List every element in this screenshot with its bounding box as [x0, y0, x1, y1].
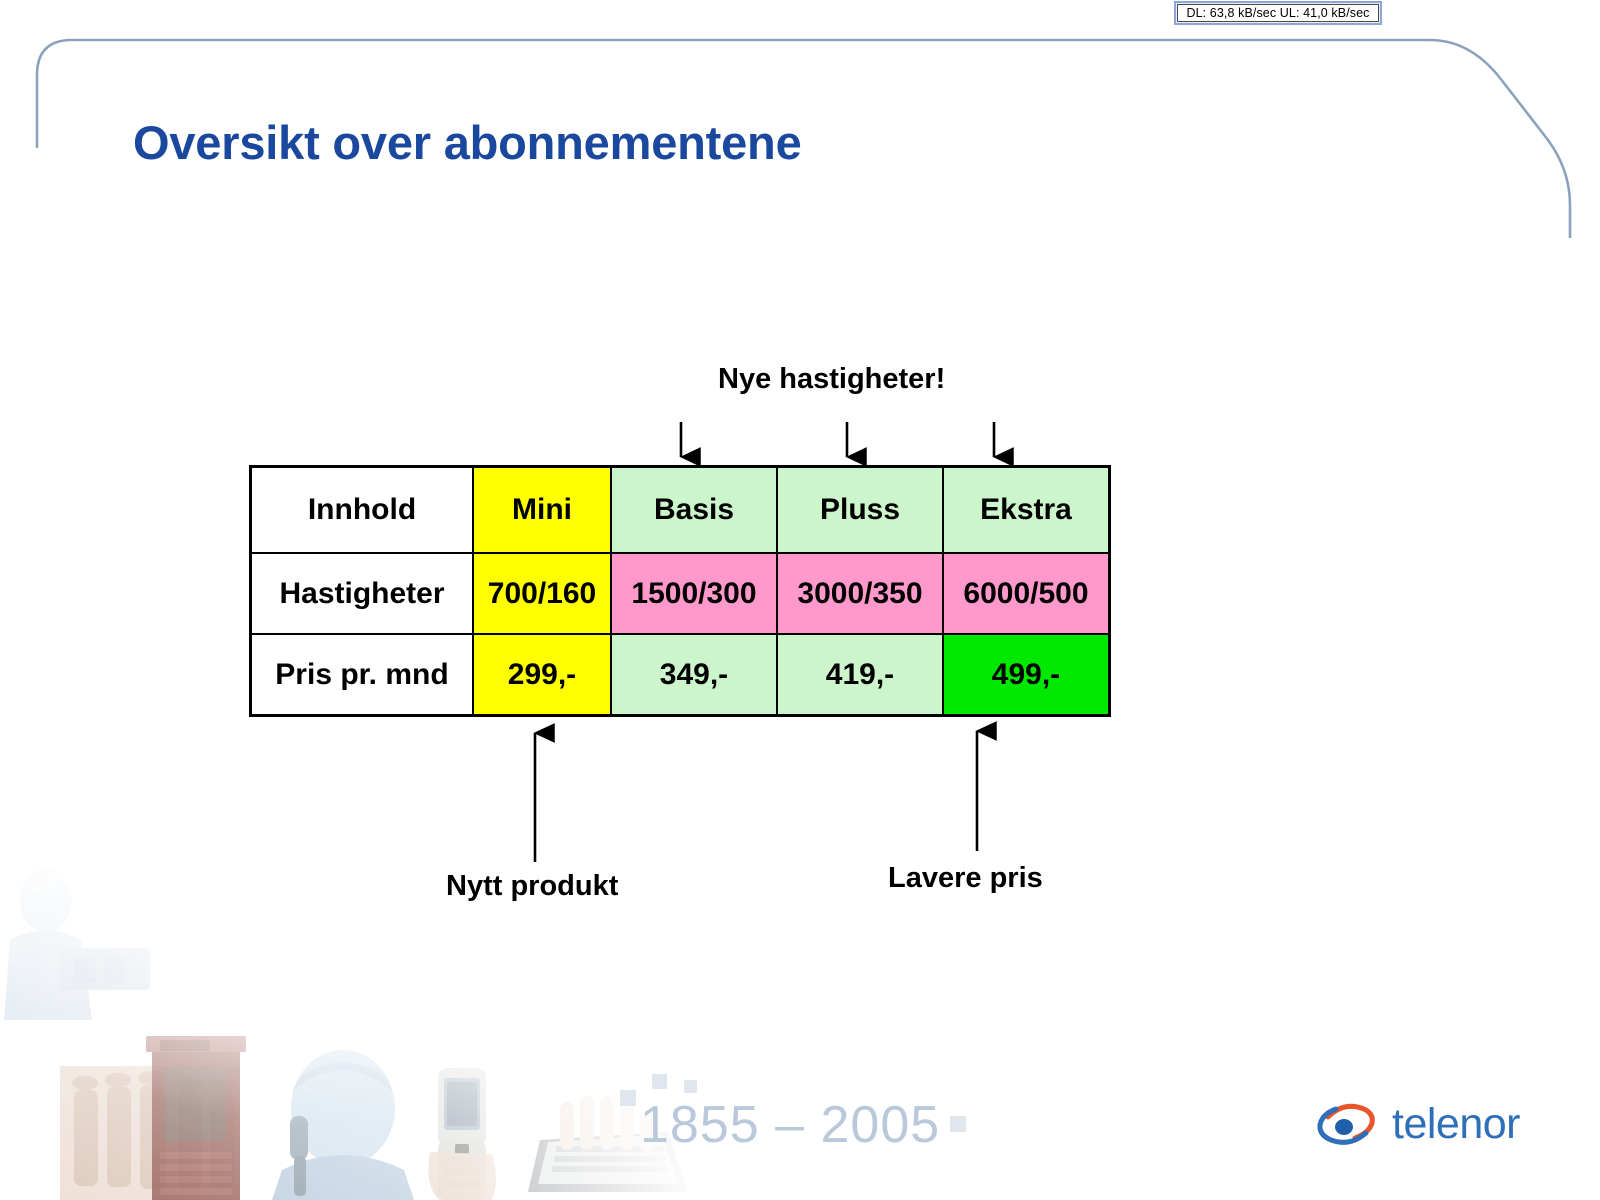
cell-pris-ekstra: 499,-: [943, 634, 1109, 715]
telenor-wordmark: telenor: [1392, 1100, 1520, 1149]
header-cell-mini: Mini: [473, 467, 611, 553]
cell-pris-mini: 299,-: [473, 634, 611, 715]
row-label-hastigheter: Hastigheter: [251, 553, 473, 634]
telenor-logo: telenor: [1314, 1097, 1520, 1151]
callout-new-product: Nytt produkt: [446, 870, 618, 903]
callout-lower-price: Lavere pris: [888, 862, 1043, 895]
page-title: Oversikt over abonnementene: [133, 115, 802, 170]
cell-hastigheter-mini: 700/160: [473, 553, 611, 634]
table-row: Pris pr. mnd 299,- 349,- 419,- 499,-: [251, 634, 1109, 715]
row-label-pris-pr-mnd: Pris pr. mnd: [251, 634, 473, 715]
cell-pris-basis: 349,-: [611, 634, 777, 715]
cell-hastigheter-basis: 1500/300: [611, 553, 777, 634]
network-speed-text: DL: 63,8 kB/sec UL: 41,0 kB/sec: [1177, 4, 1379, 22]
anniversary-mark: 1855 – 2005: [640, 1095, 940, 1155]
cell-hastigheter-pluss: 3000/350: [777, 553, 943, 634]
header-cell-ekstra: Ekstra: [943, 467, 1109, 553]
table-header-row: Innhold Mini Basis Pluss Ekstra: [251, 467, 1109, 553]
presentation-slide: DL: 63,8 kB/sec UL: 41,0 kB/sec Oversikt…: [0, 0, 1600, 1200]
telenor-swirl-icon: [1314, 1097, 1378, 1151]
subscription-plan-table: Innhold Mini Basis Pluss Ekstra Hastighe…: [250, 466, 1110, 716]
callout-new-speeds: Nye hastigheter!: [718, 363, 945, 396]
header-cell-pluss: Pluss: [777, 467, 943, 553]
network-speed-tooltip: DL: 63,8 kB/sec UL: 41,0 kB/sec: [1174, 1, 1382, 25]
table-row: Hastigheter 700/160 1500/300 3000/350 60…: [251, 553, 1109, 634]
header-cell-innhold: Innhold: [251, 467, 473, 553]
header-cell-basis: Basis: [611, 467, 777, 553]
cell-pris-pluss: 419,-: [777, 634, 943, 715]
cell-hastigheter-ekstra: 6000/500: [943, 553, 1109, 634]
